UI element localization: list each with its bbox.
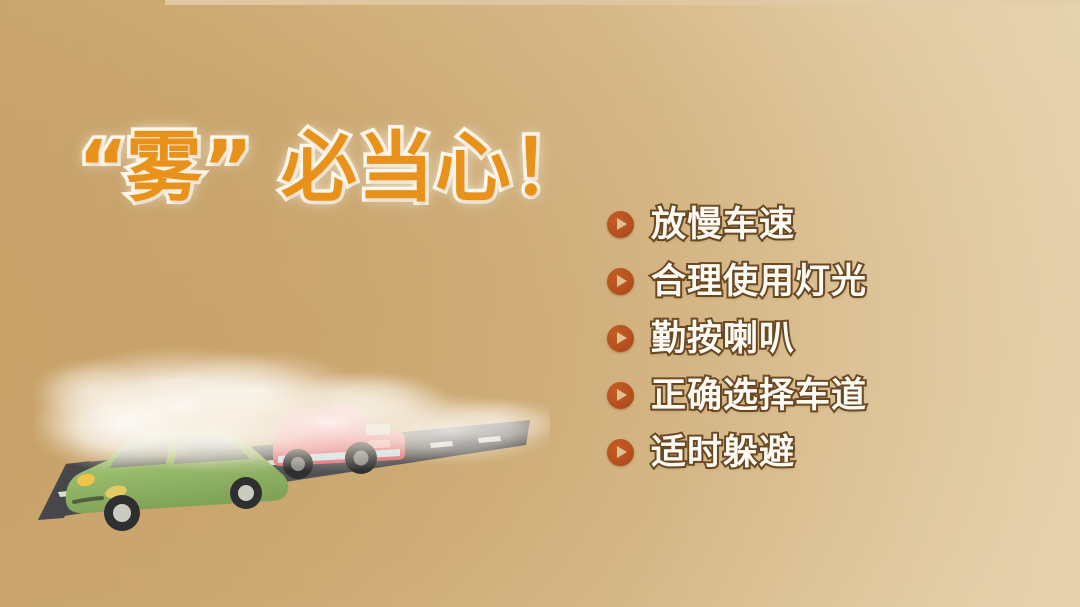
play-triangle-icon bbox=[607, 268, 634, 295]
slide-canvas: “雾”必当心！ 放慢车速 合理使用灯光 勤按喇叭 正确选择车道 适时躲避 bbox=[0, 0, 1080, 607]
list-item[interactable]: 适时躲避 bbox=[607, 424, 1027, 481]
top-highlight-strip bbox=[165, 0, 1080, 5]
advice-list: 放慢车速 合理使用灯光 勤按喇叭 正确选择车道 适时躲避 bbox=[607, 196, 1027, 481]
page-title: “雾”必当心！ bbox=[78, 116, 598, 221]
advice-label: 正确选择车道 bbox=[651, 376, 867, 416]
advice-label: 适时躲避 bbox=[651, 433, 795, 473]
list-item[interactable]: 放慢车速 bbox=[607, 196, 1027, 253]
title-rest: 必当心！ bbox=[281, 123, 589, 212]
play-triangle-icon bbox=[607, 439, 634, 466]
cars-in-fog-illustration bbox=[30, 330, 550, 560]
advice-label: 合理使用灯光 bbox=[651, 262, 867, 302]
list-item[interactable]: 勤按喇叭 bbox=[607, 310, 1027, 367]
title-close-quote: ” bbox=[203, 123, 251, 212]
advice-label: 勤按喇叭 bbox=[651, 319, 795, 359]
title-open-quote: “ bbox=[78, 123, 126, 212]
fog-cloud bbox=[30, 346, 550, 474]
play-triangle-icon bbox=[607, 382, 634, 409]
play-triangle-icon bbox=[607, 211, 634, 238]
list-item[interactable]: 合理使用灯光 bbox=[607, 253, 1027, 310]
list-item[interactable]: 正确选择车道 bbox=[607, 367, 1027, 424]
play-triangle-icon bbox=[607, 325, 634, 352]
title-keyword: 雾 bbox=[126, 123, 203, 212]
advice-label: 放慢车速 bbox=[651, 205, 795, 245]
